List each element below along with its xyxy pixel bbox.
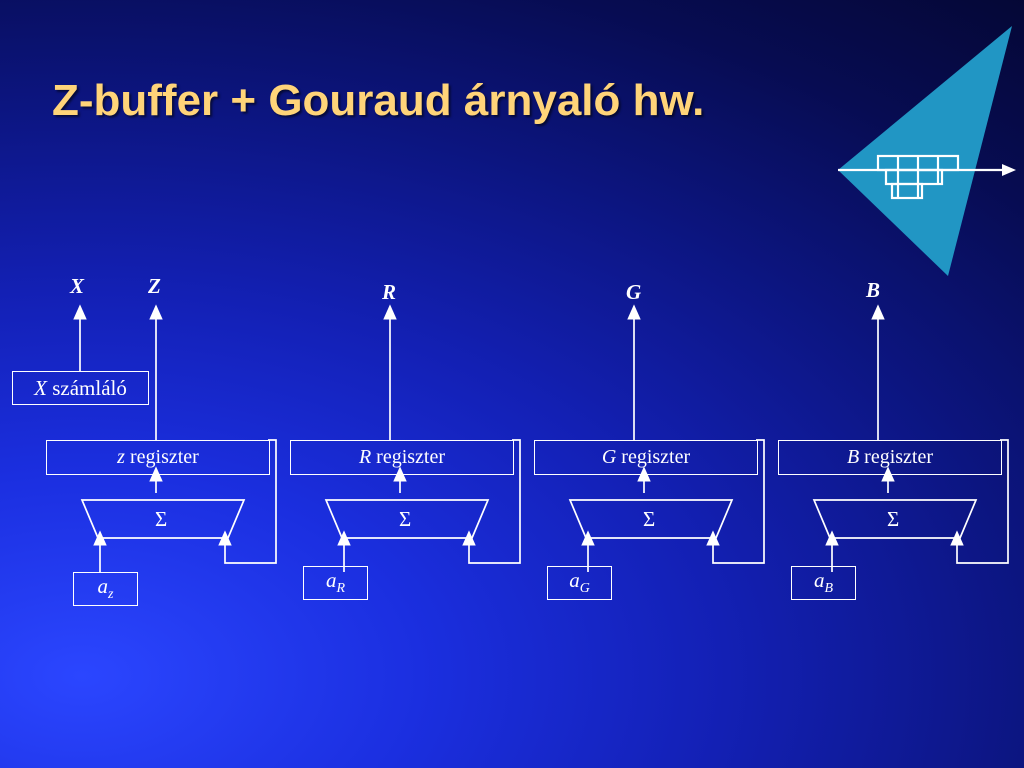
increment-box-R[interactable]: aR [303, 566, 368, 600]
increment-box-B[interactable]: aB [791, 566, 856, 600]
diagram-wiring [0, 0, 1024, 768]
register-label-B: B regiszter [847, 446, 933, 469]
increment-label-G: aG [569, 568, 590, 597]
register-label-R: R regiszter [359, 446, 445, 469]
x-counter-box[interactable]: X X számlálószámláló [12, 371, 149, 405]
adder-sigma-R: Σ [399, 507, 411, 532]
increment-label-z: az [98, 574, 114, 603]
adder-sigma-B: Σ [887, 507, 899, 532]
register-box-B[interactable]: B regiszter [778, 440, 1002, 475]
output-label-G: G [626, 280, 641, 305]
increment-box-G[interactable]: aG [547, 566, 612, 600]
increment-label-B: aB [814, 568, 833, 597]
output-label-R: R [382, 280, 396, 305]
register-box-R[interactable]: R regiszter [290, 440, 514, 475]
x-counter-label: X X számlálószámláló [34, 376, 127, 401]
register-label-G: G regiszter [602, 446, 690, 469]
output-label-X: X [70, 274, 84, 299]
adder-sigma-z: Σ [155, 507, 167, 532]
register-label-z: z regiszter [117, 446, 199, 469]
adder-sigma-G: Σ [643, 507, 655, 532]
register-box-z[interactable]: z regiszter [46, 440, 270, 475]
output-label-B: B [866, 278, 880, 303]
slide: Z-buffer + Gouraud árnyaló hw. [0, 0, 1024, 768]
increment-label-R: aR [326, 568, 345, 597]
increment-box-z[interactable]: az [73, 572, 138, 606]
output-label-Z: Z [148, 274, 161, 299]
register-box-G[interactable]: G regiszter [534, 440, 758, 475]
